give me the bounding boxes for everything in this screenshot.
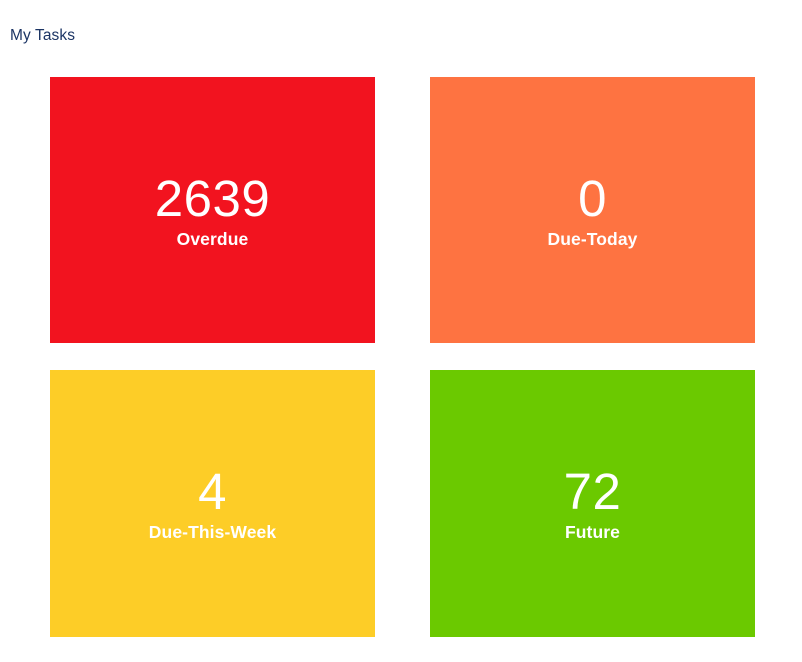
task-tile-grid: 2639 Overdue 0 Due-Today 4 Due-This-Week…: [50, 77, 755, 637]
task-tile-label-due-today: Due-Today: [547, 228, 637, 250]
task-tile-value-overdue: 2639: [155, 171, 270, 227]
task-tile-label-future: Future: [565, 521, 620, 543]
task-tile-due-today[interactable]: 0 Due-Today: [430, 77, 755, 343]
task-tile-value-future: 72: [564, 464, 622, 520]
task-tile-value-due-today: 0: [578, 171, 607, 227]
task-tile-overdue[interactable]: 2639 Overdue: [50, 77, 375, 343]
task-tile-label-due-this-week: Due-This-Week: [149, 521, 276, 543]
task-tile-due-this-week[interactable]: 4 Due-This-Week: [50, 370, 375, 637]
task-tile-label-overdue: Overdue: [177, 228, 249, 250]
my-tasks-widget: My Tasks 2639 Overdue 0 Due-Today 4 Due-…: [0, 0, 802, 662]
task-tile-value-due-this-week: 4: [198, 464, 227, 520]
page-title: My Tasks: [10, 26, 75, 46]
task-tile-future[interactable]: 72 Future: [430, 370, 755, 637]
